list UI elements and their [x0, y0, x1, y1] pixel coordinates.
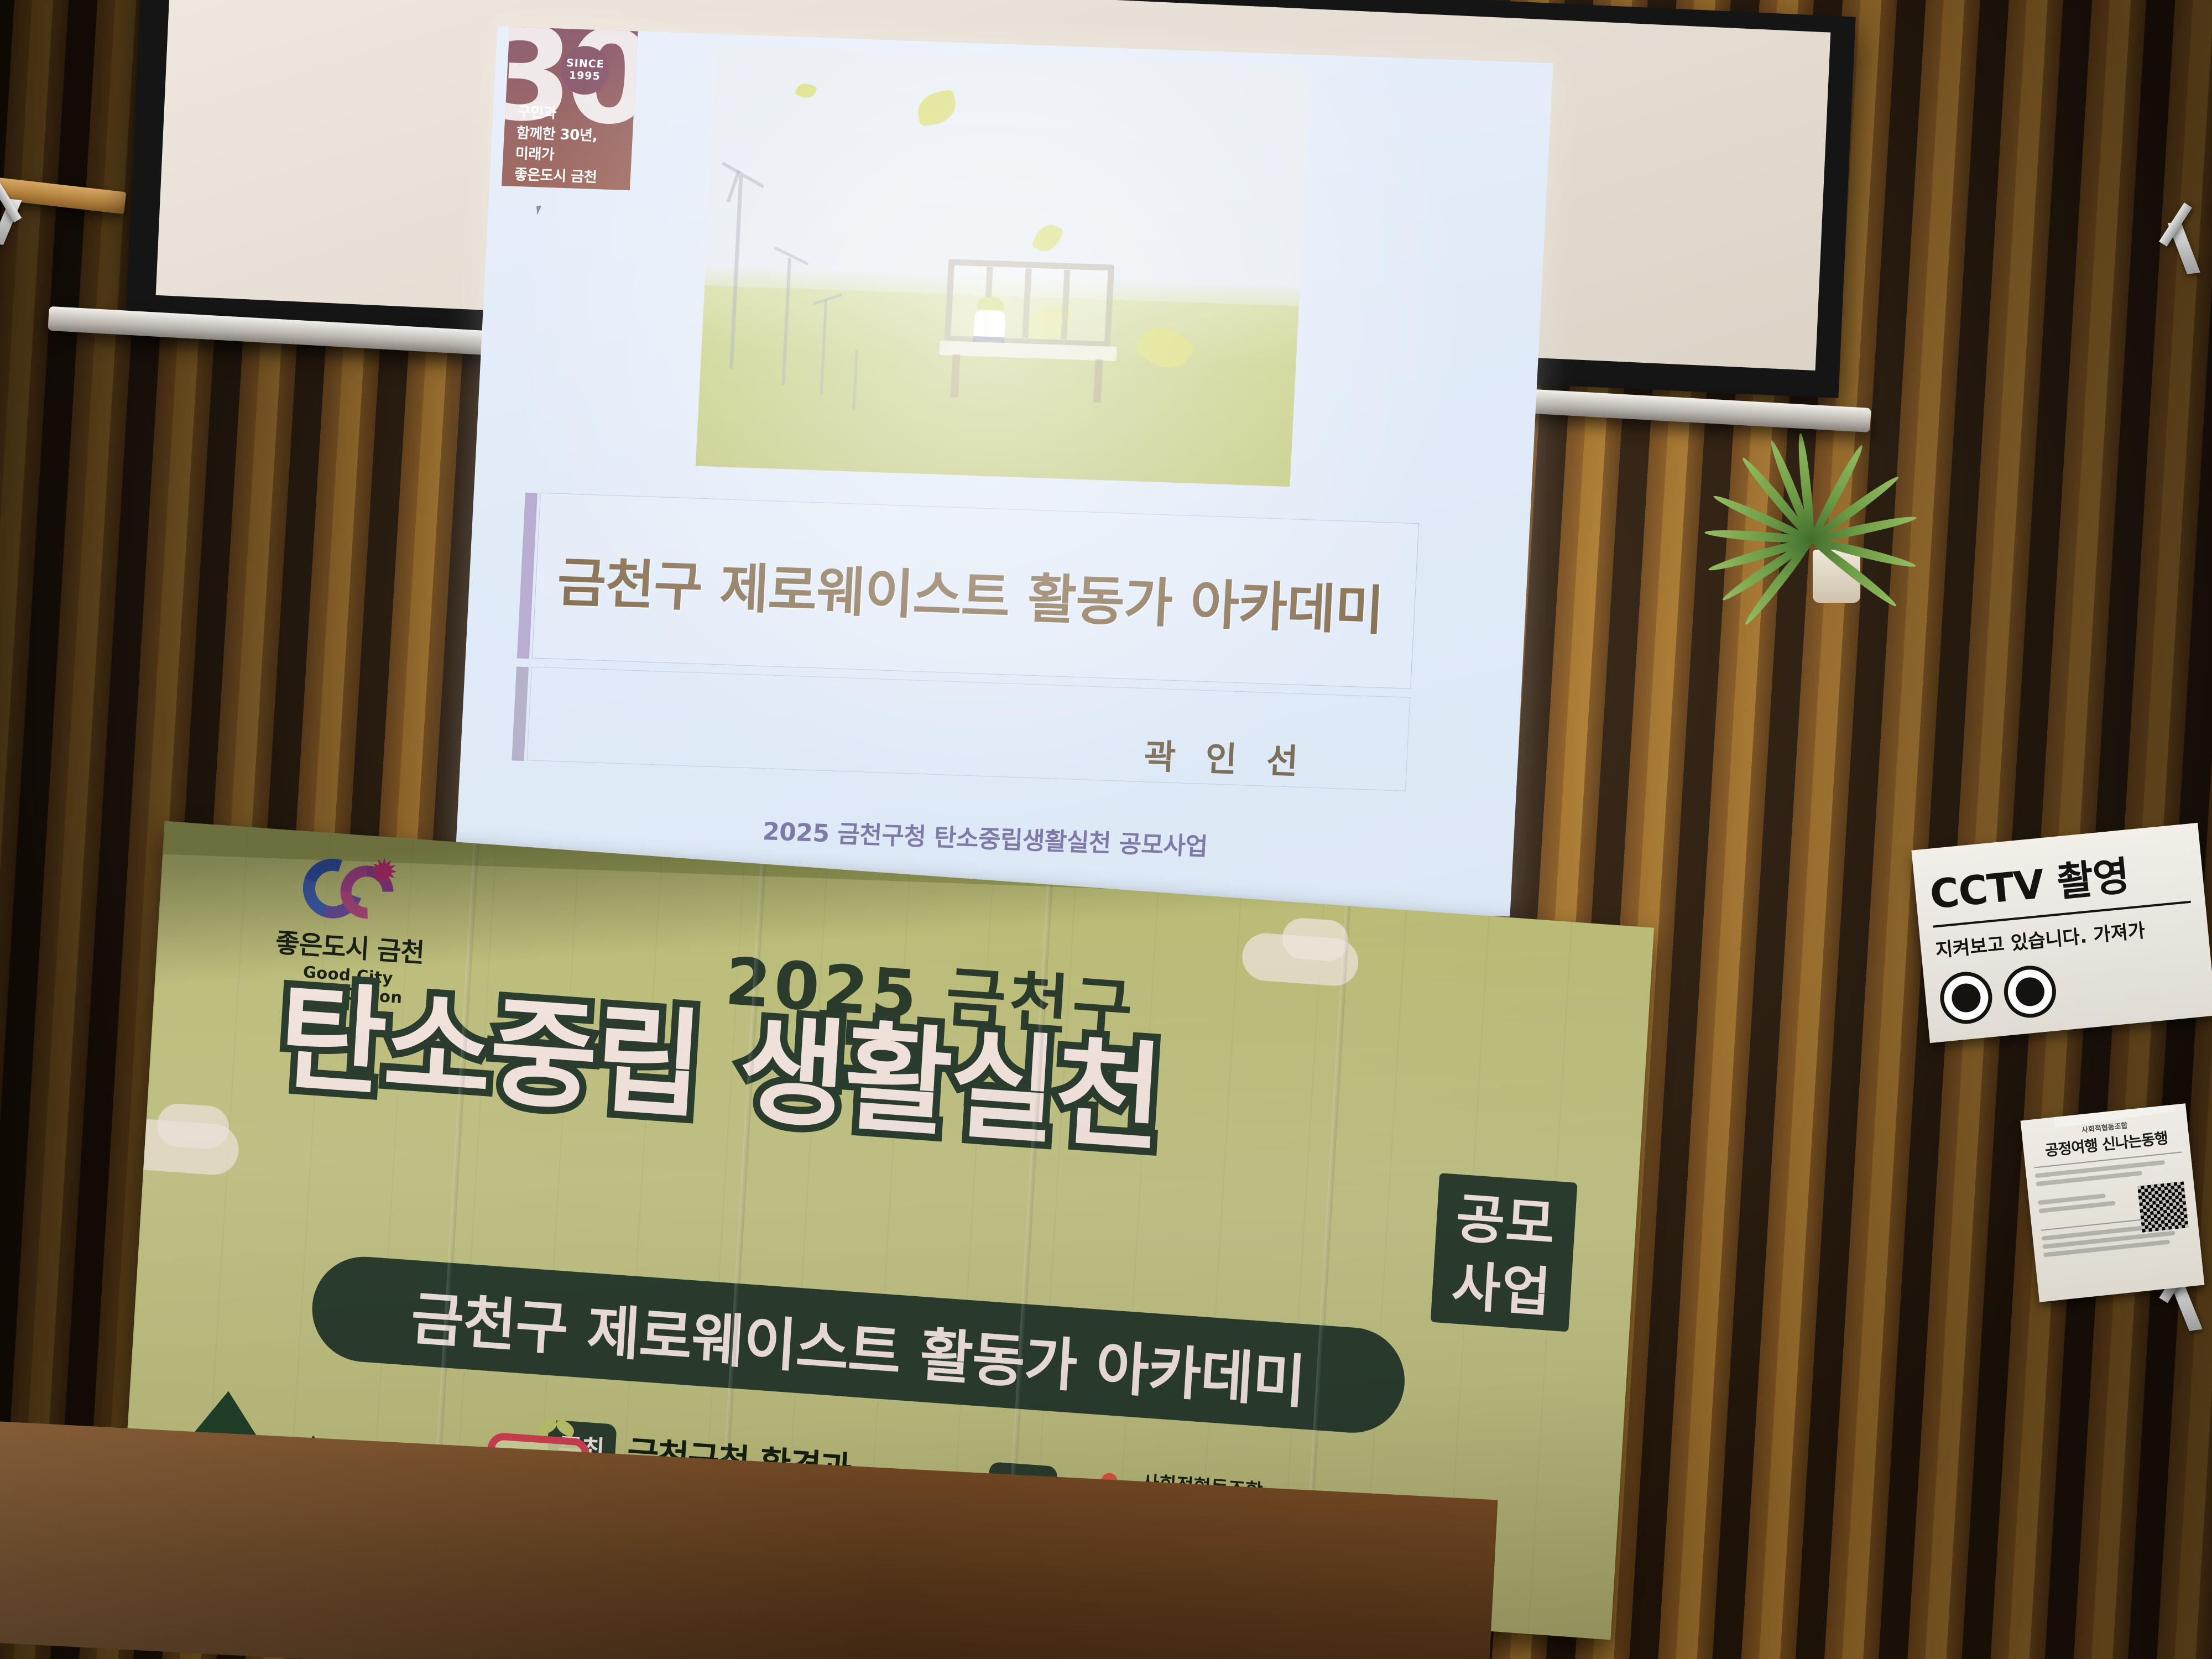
eye-right	[2002, 963, 2059, 1020]
badge-tagline-line-3: 미래가	[515, 144, 598, 168]
slide-title-band: 금천구 제로웨이스트 활동가 아카데미	[532, 493, 1419, 689]
eyes-icon	[1938, 950, 2200, 1026]
falling-leaf-icon	[795, 81, 817, 101]
bench-leg	[1093, 359, 1103, 403]
since-year: 1995	[568, 70, 601, 83]
cctv-notice-sign: CCTV 촬영 지켜보고 있습니다. 가져가	[1911, 823, 2212, 1043]
badge-tagline-line-4: 좋은도시 금천	[514, 165, 597, 189]
seated-person-illustration	[972, 296, 1008, 351]
bench-illustration	[937, 259, 1121, 403]
presentation-slide[interactable]: 30 SINCE 1995 구민과 함께한 30년, 미래가 좋은도시 금천	[454, 27, 1553, 917]
qr-code-icon[interactable]	[2137, 1181, 2188, 1232]
slide-photo	[696, 46, 1311, 487]
spider-plant	[1670, 441, 2002, 674]
badge-tagline-line-1: 구민과	[517, 102, 601, 126]
eye-left	[1938, 969, 1995, 1026]
room-scene: 30 SINCE 1995 구민과 함께한 30년, 미래가 좋은도시 금천	[0, 0, 2212, 1659]
wind-turbine-blade	[774, 247, 809, 265]
bench-leg	[951, 354, 961, 398]
title-accent-bar	[517, 493, 538, 659]
slide-presenter-name: 곽 인 선	[1143, 728, 1308, 784]
wind-turbine-blade	[722, 161, 764, 188]
slide-title: 금천구 제로웨이스트 활동가 아카데미	[556, 539, 1405, 645]
cctv-title: CCTV 촬영	[1927, 837, 2190, 920]
falling-leaf-icon	[1031, 220, 1065, 256]
badge-tagline-line-2: 함께한 30년,	[516, 123, 599, 147]
organization-flyer[interactable]: 사회적협동조합 공정여행 신나는동행	[2021, 1103, 2205, 1302]
presenter-accent-bar	[512, 666, 529, 761]
anniversary-badge: 30 SINCE 1995 구민과 함께한 30년, 미래가 좋은도시 금천	[502, 27, 638, 190]
badge-tagline: 구민과 함께한 30년, 미래가 좋은도시 금천	[514, 102, 601, 189]
person-belt	[973, 336, 1004, 343]
slide-presenter-band: 곽 인 선	[526, 666, 1410, 791]
mouse-cursor-icon	[536, 206, 542, 215]
falling-leaf-icon	[915, 89, 959, 127]
